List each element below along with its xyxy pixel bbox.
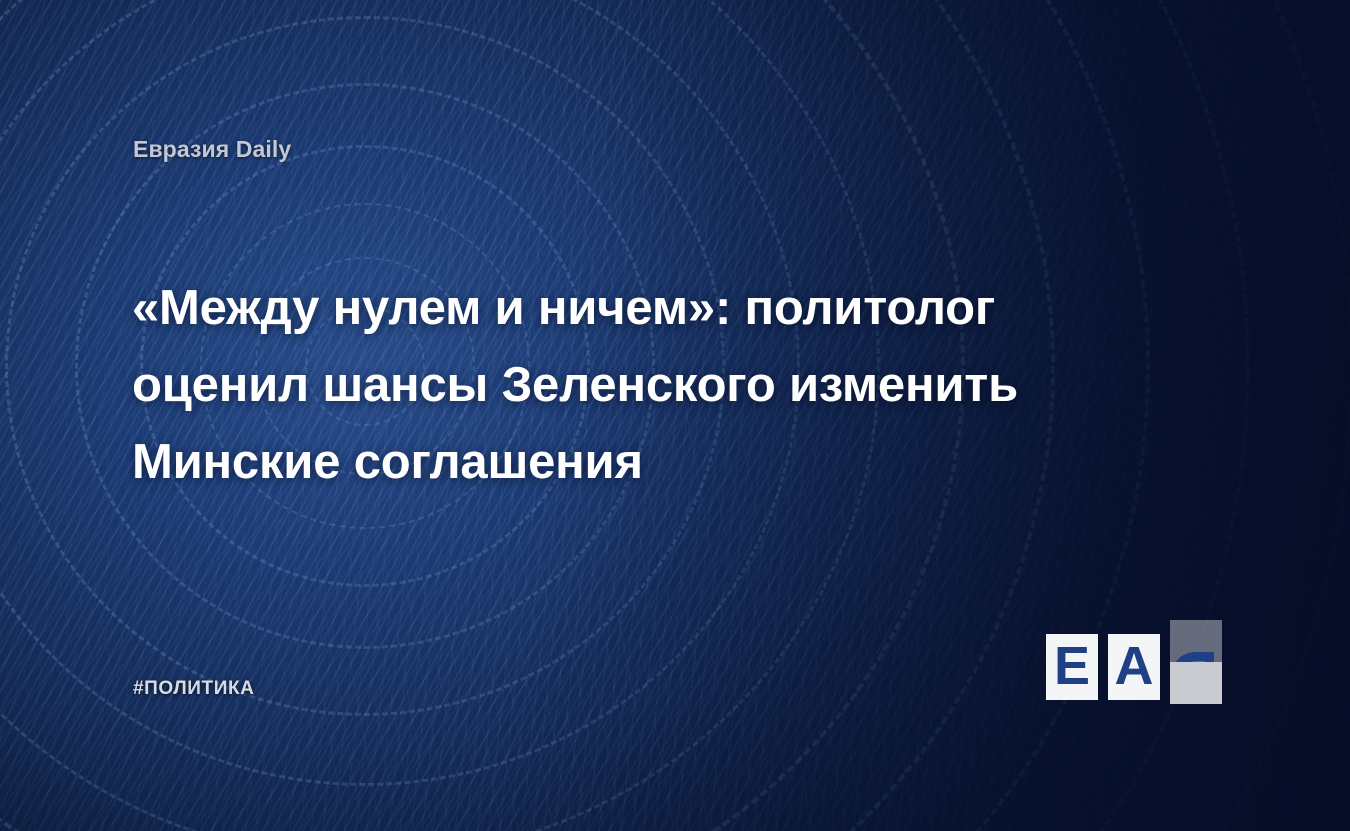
card-content: Евразия Daily «Между нулем и ничем»: пол… — [0, 0, 1350, 831]
logo-letter-e: E — [1054, 639, 1090, 693]
news-cover-card: Евразия Daily «Между нулем и ничем»: пол… — [0, 0, 1350, 831]
logo-tile-a: A — [1108, 634, 1160, 700]
logo-letter-a: A — [1115, 639, 1154, 693]
logo-tile-d — [1170, 620, 1222, 704]
logo-d-glyph-lower — [1170, 662, 1222, 704]
logo-d-lower-half — [1170, 662, 1222, 704]
logo-tile-e: E — [1046, 634, 1098, 700]
site-brand-name: Евразия Daily — [133, 136, 291, 163]
article-headline: «Между нулем и ничем»: политолог оценил … — [132, 270, 1142, 501]
logo-d-upper-half — [1170, 620, 1222, 662]
eadaily-logo[interactable]: E A — [1046, 620, 1222, 704]
logo-d-glyph-upper — [1170, 620, 1222, 662]
category-hashtag: #ПОЛИТИКА — [133, 678, 255, 700]
